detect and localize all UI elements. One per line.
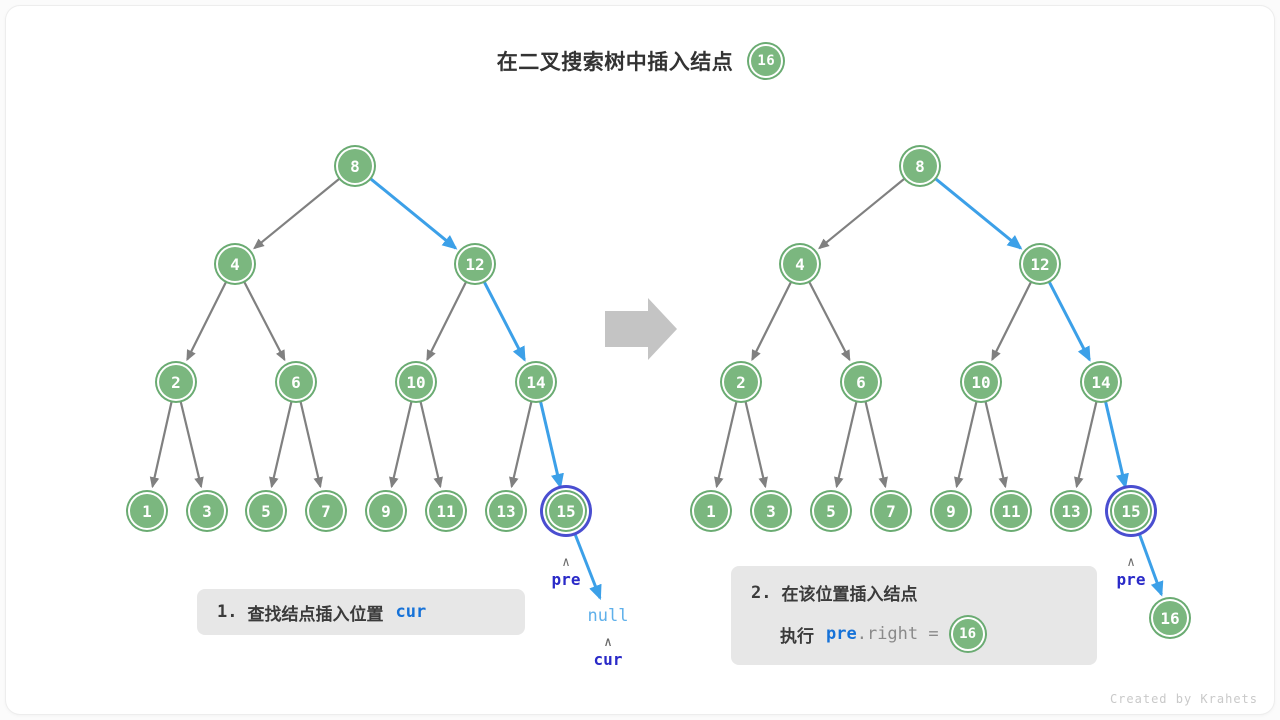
tree-node-7: 7 (872, 492, 910, 530)
tree-node-5: 5 (247, 492, 285, 530)
diagram-stage: 在二叉搜索树中插入结点 16 841226101413579111315 841… (0, 0, 1280, 720)
right-caption-exec-label: 执行 (780, 622, 814, 647)
label-pre-right: pre (1117, 570, 1146, 589)
left-caption-box: 1. 查找结点插入位置 cur (197, 589, 525, 635)
tree-node-10: 10 (397, 363, 435, 401)
right-caption-box: 2. 在该位置插入结点 执行 pre .right = 16 (731, 566, 1097, 665)
tree-node-8: 8 (901, 147, 939, 185)
tree-node-15: 15 (547, 492, 585, 530)
tree-node-13: 13 (487, 492, 525, 530)
right-caption-code-pre: pre (826, 624, 857, 644)
tree-node-14: 14 (1082, 363, 1120, 401)
page-title-text: 在二叉搜索树中插入结点 (497, 46, 734, 76)
tree-node-7: 7 (307, 492, 345, 530)
footer-credit: Created by Krahets (1110, 692, 1258, 706)
tree-node-9: 9 (367, 492, 405, 530)
tree-node-5: 5 (812, 492, 850, 530)
tree-node-2: 2 (722, 363, 760, 401)
tree-node-4: 4 (216, 245, 254, 283)
left-caption-code: cur (395, 602, 426, 622)
tree-node-12: 12 (456, 245, 494, 283)
tree-node-10: 10 (962, 363, 1000, 401)
tree-node-2: 2 (157, 363, 195, 401)
tree-node-12: 12 (1021, 245, 1059, 283)
page-title: 在二叉搜索树中插入结点 16 (0, 44, 1280, 78)
right-caption-node-16: 16 (951, 617, 985, 651)
caret-pre-left: ∧ (562, 556, 570, 569)
tree-node-3: 3 (752, 492, 790, 530)
left-caption-number: 1. (217, 602, 237, 622)
right-caption-line-1: 2. 在该位置插入结点 (751, 580, 1077, 605)
label-cur-left: cur (594, 650, 623, 669)
tree-node-3: 3 (188, 492, 226, 530)
right-caption-number: 2. (751, 583, 771, 603)
right-block-arrow-icon (605, 298, 677, 360)
tree-node-8: 8 (336, 147, 374, 185)
tree-node-16: 16 (1151, 599, 1189, 637)
tree-node-4: 4 (781, 245, 819, 283)
tree-node-11: 11 (427, 492, 465, 530)
right-caption-line-2: 执行 pre .right = 16 (780, 617, 1077, 651)
caret-cur-left: ∧ (604, 636, 612, 649)
right-caption-code-rest: .right = (857, 624, 939, 644)
left-caption-text: 查找结点插入位置 (247, 600, 383, 625)
tree-node-15: 15 (1112, 492, 1150, 530)
tree-node-6: 6 (277, 363, 315, 401)
caret-pre-right: ∧ (1127, 556, 1135, 569)
right-caption-text: 在该位置插入结点 (781, 580, 917, 605)
tree-node-6: 6 (842, 363, 880, 401)
tree-node-13: 13 (1052, 492, 1090, 530)
label-null-left: null (588, 606, 629, 626)
tree-node-11: 11 (992, 492, 1030, 530)
tree-node-14: 14 (517, 363, 555, 401)
title-node-16: 16 (749, 44, 783, 78)
tree-node-1: 1 (128, 492, 166, 530)
tree-node-9: 9 (932, 492, 970, 530)
diagram-root: 在二叉搜索树中插入结点 16 841226101413579111315 841… (0, 0, 1280, 720)
tree-node-1: 1 (692, 492, 730, 530)
label-pre-left: pre (552, 570, 581, 589)
